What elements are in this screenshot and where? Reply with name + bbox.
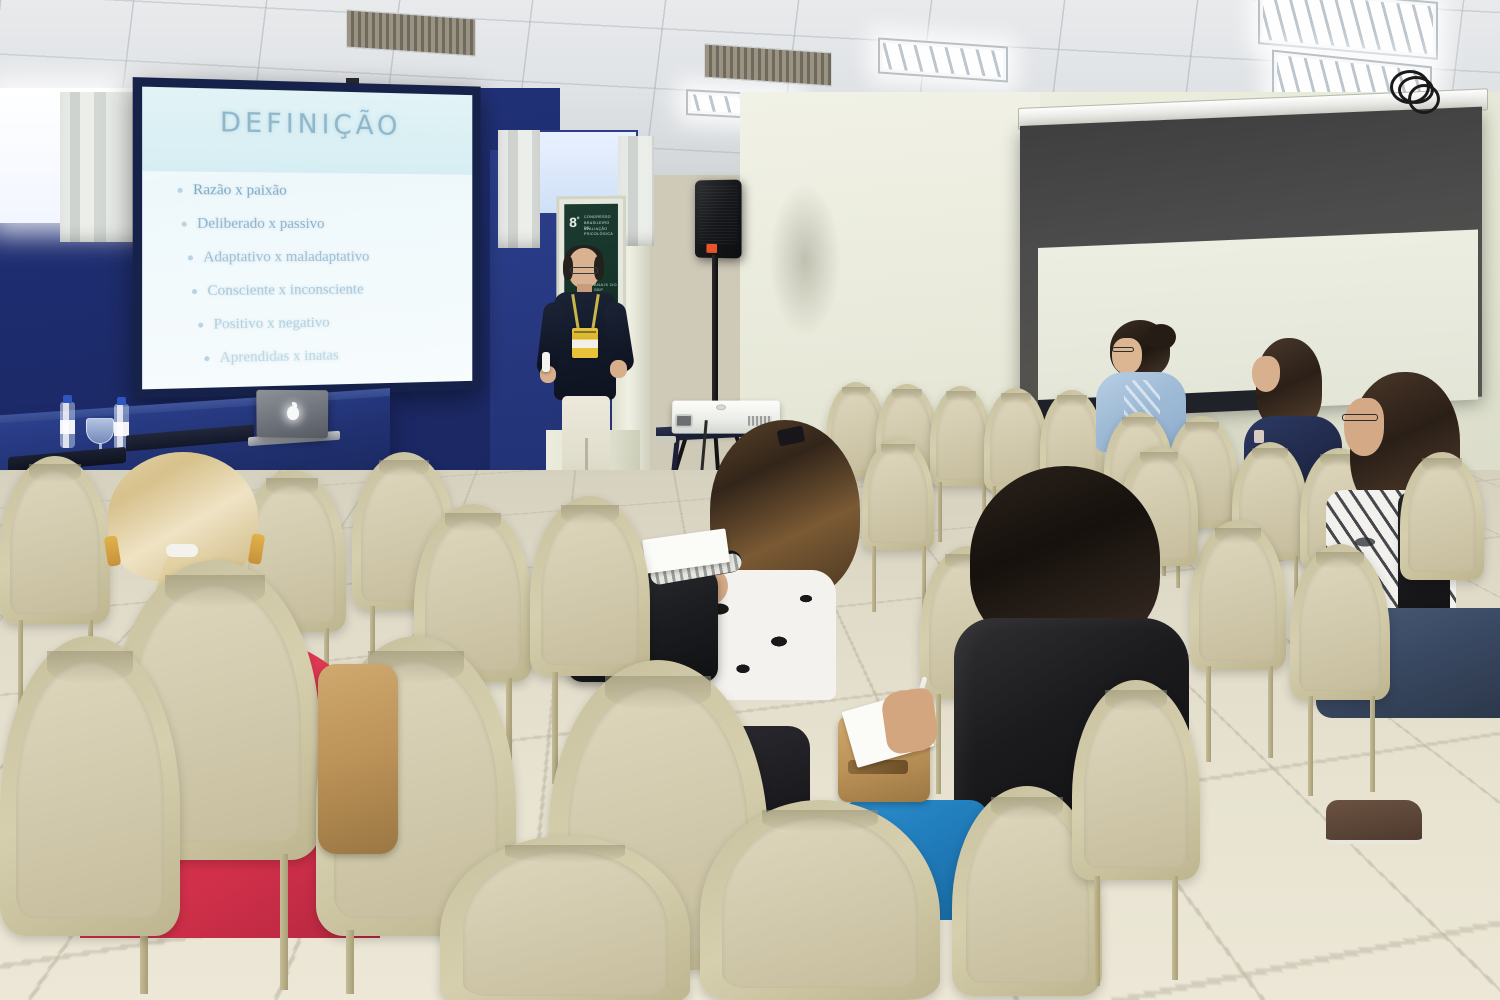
speaker-stand-pole	[712, 255, 718, 420]
chair-empty[interactable]	[0, 636, 180, 936]
chair-empty[interactable]	[440, 836, 690, 1000]
chair-empty[interactable]	[1400, 452, 1484, 580]
slide-bullet-label: Consciente x inconsciente	[207, 282, 363, 301]
chair-empty[interactable]	[1190, 520, 1286, 670]
speaker-grille	[699, 184, 738, 245]
bullet-dot-icon	[198, 323, 203, 328]
bullet-dot-icon	[182, 222, 187, 227]
attendee-glasses-icon	[1112, 347, 1134, 352]
presenter	[532, 248, 642, 498]
attendee-face	[1344, 398, 1384, 456]
bullet-dot-icon	[192, 289, 197, 294]
presenter-name-badge	[572, 328, 598, 358]
projector-focus-knob[interactable]	[716, 404, 726, 410]
slide-bullet-label: Adaptativo x maladaptativo	[203, 249, 369, 267]
attendee-glasses-icon	[1342, 414, 1378, 421]
slide-bullet: Consciente x inconsciente	[178, 281, 460, 301]
pa-speaker	[695, 180, 742, 259]
curtain-left	[60, 92, 138, 242]
banner-title-line1: CONGRESSO	[584, 215, 614, 220]
laptop[interactable]	[256, 390, 328, 439]
projection-screen-left: DEFINIÇÃO Razão x paixão Deliberado x pa…	[133, 77, 481, 399]
slide-bullet-label: Deliberado x passivo	[197, 216, 324, 233]
attendee-shoulder-bag	[318, 664, 398, 854]
bottle-label	[60, 420, 75, 434]
conference-room-photo: DEFINIÇÃO Razão x paixão Deliberado x pa…	[0, 0, 1500, 1000]
slide-bullet: Adaptativo x maladaptativo	[178, 249, 460, 267]
slide-bullet: Deliberado x passivo	[178, 215, 460, 233]
chair-empty[interactable]	[530, 496, 650, 676]
presenter-right-hand	[610, 360, 627, 378]
hair-tie-icon	[166, 544, 198, 557]
banner-edition-number: 8º	[569, 214, 579, 230]
attendee-hand	[880, 687, 940, 756]
presentation-slide: DEFINIÇÃO Razão x paixão Deliberado x pa…	[142, 87, 472, 390]
attendee-face	[1252, 356, 1280, 392]
curtain-center-a	[498, 130, 540, 248]
bottle-label	[114, 422, 129, 436]
bottle-cap	[63, 395, 72, 403]
bottle-cap	[117, 397, 126, 405]
slide-bullet-label: Positivo x negativo	[214, 315, 330, 334]
banner-title-line3: AVALIAÇÃO PSICOLÓGICA	[584, 227, 614, 238]
slide-bullet: Razão x paixão	[178, 182, 460, 201]
presenter-clicker-remote[interactable]	[542, 352, 550, 372]
cart-small-item	[654, 436, 676, 443]
wall-shadow	[770, 185, 840, 335]
projector-lens-icon	[675, 414, 693, 428]
slide-bullet-label: Razão x paixão	[193, 182, 287, 200]
slide-bullet-label: Aprendidas x inatas	[220, 347, 339, 367]
attendee-hair-bun	[1146, 324, 1176, 350]
attendee-face	[1112, 338, 1142, 374]
presenter-glasses-icon	[570, 267, 598, 274]
apple-logo-icon	[287, 406, 299, 420]
coiled-cable-icon	[1388, 66, 1448, 116]
chair-empty[interactable]	[0, 456, 110, 624]
jbl-logo-icon	[706, 244, 717, 253]
bullet-dot-icon	[188, 255, 193, 260]
slide-bullet: Aprendidas x inatas	[178, 345, 460, 368]
chair-empty[interactable]	[1072, 680, 1200, 880]
bullet-dot-icon	[178, 188, 183, 193]
attendee-shoe	[1326, 800, 1422, 844]
chair-empty[interactable]	[1290, 544, 1390, 700]
slide-bullet-list: Razão x paixão Deliberado x passivo Adap…	[178, 182, 460, 385]
slide-title: DEFINIÇÃO	[142, 105, 472, 143]
water-bottle	[60, 402, 75, 448]
slide-bullet: Positivo x negativo	[178, 313, 460, 334]
chair-empty[interactable]	[700, 800, 940, 1000]
bullet-dot-icon	[204, 356, 209, 361]
